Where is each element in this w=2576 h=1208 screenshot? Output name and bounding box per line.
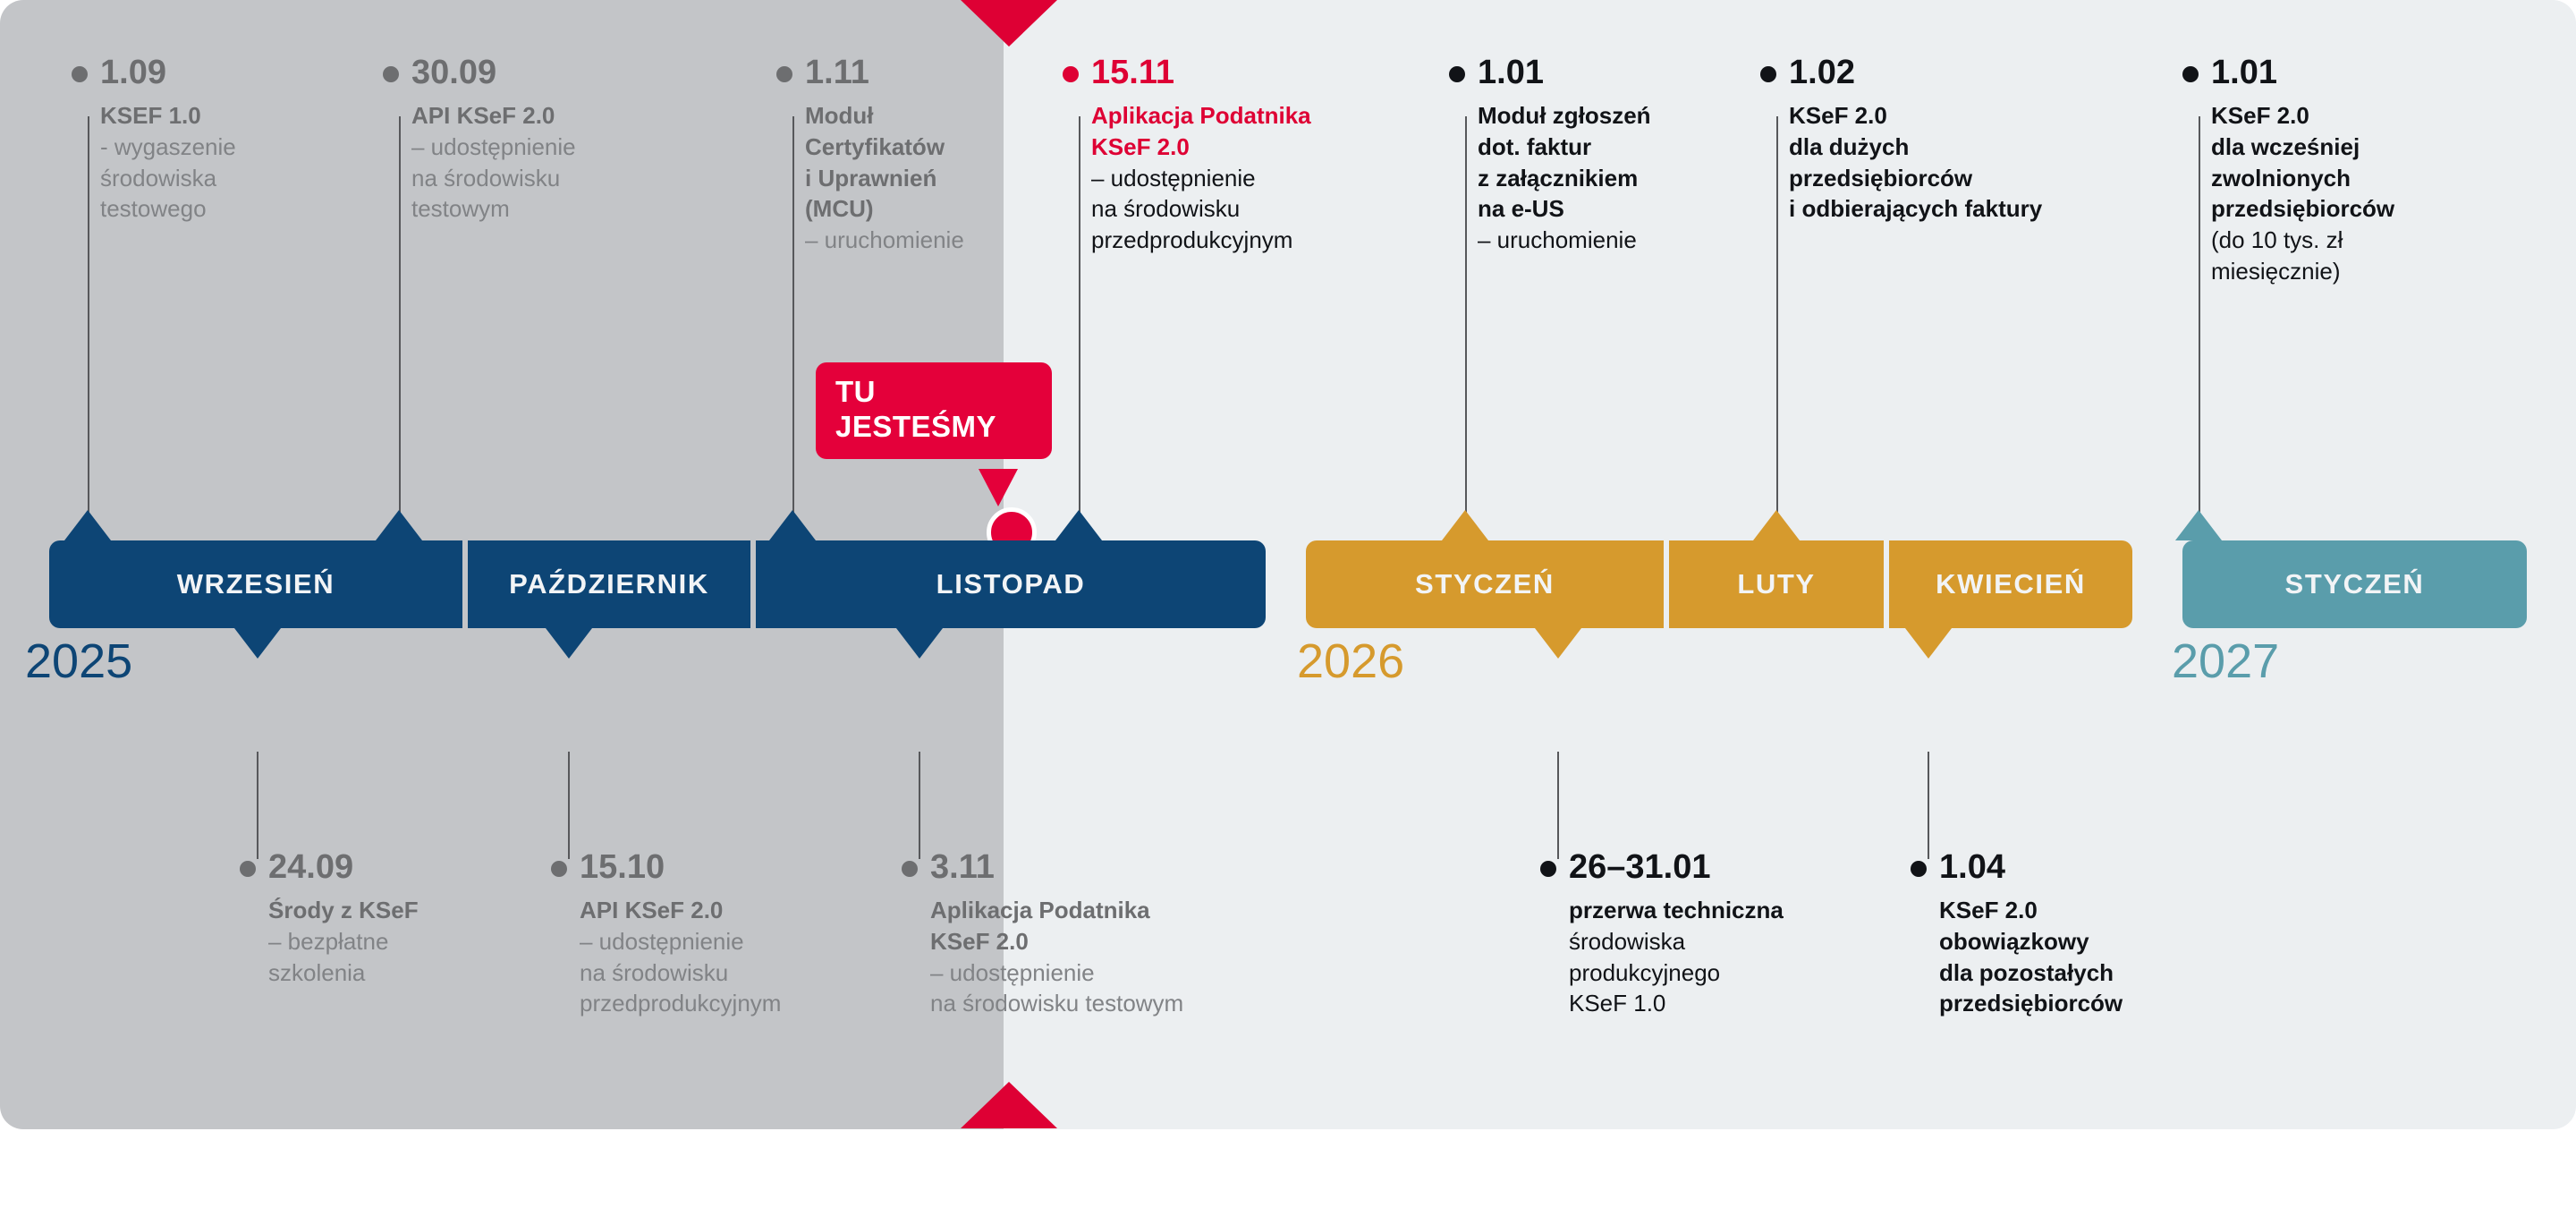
year-label-2026: 2026 [1297, 634, 1404, 689]
year-label-2025: 2025 [25, 634, 132, 689]
event-text: Środy z KSeF – bezpłatneszkolenia [240, 895, 445, 988]
bullet-icon [1063, 66, 1079, 82]
month-label: PAŹDZIERNIK [509, 568, 709, 600]
event-bottom-1: 15.10 API KSeF 2.0 – udostępnieniena śro… [551, 850, 810, 1019]
month-label: LUTY [1737, 568, 1815, 600]
event-text: KSeF 2.0obowiązkowydla pozostałychprzeds… [1911, 895, 2215, 1019]
bullet-icon [72, 66, 88, 82]
month-label: STYCZEŃ [2285, 568, 2425, 600]
connector-bottom-4 [1928, 752, 1929, 859]
you-are-here-line2: JESTEŚMY [835, 410, 1032, 445]
you-are-here-line1: TU [835, 375, 1032, 410]
connector-top-2 [792, 116, 794, 519]
event-desc: – bezpłatneszkolenia [268, 926, 445, 989]
bullet-icon [1760, 66, 1776, 82]
event-date: 15.10 [551, 850, 810, 884]
month-label: WRZESIEŃ [177, 568, 335, 600]
year-label-2027: 2027 [2172, 634, 2279, 689]
event-desc: – udostępnieniena środowiskuprzedprodukc… [580, 926, 810, 1019]
connector-top-4 [1465, 116, 1467, 519]
event-title: Aplikacja PodatnikaKSeF 2.0 [930, 895, 1286, 957]
bullet-icon [240, 861, 256, 877]
bullet-icon [551, 861, 567, 877]
event-title: KSEF 1.0 [100, 100, 241, 132]
month-label: KWIECIEŃ [1936, 568, 2086, 600]
connector-bottom-1 [568, 752, 570, 859]
bullet-icon [1540, 861, 1556, 877]
event-title: ModułCertyfikatówi Uprawnień(MCU) [805, 100, 982, 225]
event-top-2: 1.11 ModułCertyfikatówi Uprawnień(MCU) –… [776, 55, 982, 256]
arrow-down-kwiecien [1905, 628, 1952, 659]
event-title: KSeF 2.0obowiązkowydla pozostałychprzeds… [1939, 895, 2215, 1019]
event-date: 1.04 [1911, 850, 2215, 884]
event-title: Środy z KSeF [268, 895, 445, 926]
event-title: Moduł zgłoszeńdot. fakturz załącznikiemn… [1478, 100, 1708, 225]
event-bottom-2: 3.11 Aplikacja PodatnikaKSeF 2.0 – udost… [902, 850, 1286, 1019]
month-bar-luty[interactable]: LUTY [1669, 540, 1884, 628]
connector-top-0 [88, 116, 89, 519]
event-date: 3.11 [902, 850, 1286, 884]
event-desc: – udostępnieniena środowisku testowym [930, 957, 1286, 1020]
arrow-up-listopad-b [1055, 510, 1102, 540]
event-date: 30.09 [383, 55, 589, 89]
bullet-icon [776, 66, 792, 82]
event-title: API KSeF 2.0 [411, 100, 589, 132]
bullet-icon [902, 861, 918, 877]
event-top-1: 30.09 API KSeF 2.0 – udostępnieniena śro… [383, 55, 589, 225]
connector-top-1 [399, 116, 401, 519]
connector-bottom-2 [919, 752, 920, 859]
event-top-6: 1.01 KSeF 2.0dla wcześniejzwolnionychprz… [2182, 55, 2540, 287]
arrow-down-styczen-2026 [1535, 628, 1581, 659]
event-desc: (do 10 tys. złmiesięcznie) [2211, 225, 2540, 287]
event-bottom-0: 24.09 Środy z KSeF – bezpłatneszkolenia [240, 850, 445, 988]
month-bar-pazdziernik[interactable]: PAŹDZIERNIK [468, 540, 750, 628]
month-bar-styczen-2026[interactable]: STYCZEŃ [1306, 540, 1664, 628]
event-text: KSEF 1.0 - wygaszenieśrodowiskatestowego [72, 100, 241, 225]
arrow-up-styczen-2027 [2175, 510, 2222, 540]
arrow-down-listopad [896, 628, 943, 659]
event-title: KSeF 2.0dla wcześniejzwolnionychprzedsię… [2211, 100, 2540, 225]
event-text: Moduł zgłoszeńdot. fakturz załącznikiemn… [1449, 100, 1708, 256]
event-bottom-3: 26–31.01 przerwa techniczna środowiskapr… [1540, 850, 1880, 1019]
month-bar-listopad[interactable]: LISTOPAD [756, 540, 1266, 628]
current-date-marker-bottom-icon [961, 1082, 1057, 1128]
bullet-icon [383, 66, 399, 82]
event-desc: środowiskaprodukcyjnegoKSeF 1.0 [1569, 926, 1880, 1019]
connector-bottom-0 [257, 752, 258, 859]
event-text: KSeF 2.0dla wcześniejzwolnionychprzedsię… [2182, 100, 2540, 287]
month-label: LISTOPAD [936, 568, 1086, 600]
event-top-5: 1.02 KSeF 2.0dla dużychprzedsiębiorcówi … [1760, 55, 2145, 225]
arrow-down-pazdziernik [546, 628, 592, 659]
event-desc: – uruchomienie [805, 225, 982, 256]
event-date: 26–31.01 [1540, 850, 1880, 884]
timeline-infographic: 1.09 KSEF 1.0 - wygaszenieśrodowiskatest… [0, 0, 2576, 1208]
arrow-up-styczen-2026 [1442, 510, 1488, 540]
arrow-up-pazdziernik [376, 510, 422, 540]
event-title: API KSeF 2.0 [580, 895, 810, 926]
event-text: ModułCertyfikatówi Uprawnień(MCU) – uruc… [776, 100, 982, 256]
event-bottom-4: 1.04 KSeF 2.0obowiązkowydla pozostałychp… [1911, 850, 2215, 1019]
event-date: 1.02 [1760, 55, 2145, 89]
you-are-here-tail-icon [979, 469, 1018, 506]
event-date: 1.01 [2182, 55, 2540, 89]
month-bar-styczen-2027[interactable]: STYCZEŃ [2182, 540, 2527, 628]
connector-top-3 [1079, 116, 1080, 519]
event-text: API KSeF 2.0 – udostępnieniena środowisk… [383, 100, 589, 225]
event-title: przerwa techniczna [1569, 895, 1880, 926]
event-text: przerwa techniczna środowiskaprodukcyjne… [1540, 895, 1880, 1019]
you-are-here-badge: TU JESTEŚMY [816, 362, 1052, 459]
arrow-up-luty [1753, 510, 1800, 540]
arrow-up-wrzesien [64, 510, 111, 540]
month-label: STYCZEŃ [1415, 568, 1555, 600]
event-top-0: 1.09 KSEF 1.0 - wygaszenieśrodowiskatest… [72, 55, 241, 225]
bullet-icon [2182, 66, 2199, 82]
event-title: KSeF 2.0dla dużychprzedsiębiorcówi odbie… [1789, 100, 2145, 225]
event-text: KSeF 2.0dla dużychprzedsiębiorcówi odbie… [1760, 100, 2145, 225]
arrow-up-listopad [769, 510, 816, 540]
event-date: 24.09 [240, 850, 445, 884]
connector-bottom-3 [1557, 752, 1559, 859]
event-date: 1.09 [72, 55, 241, 89]
event-top-3: 15.11 Aplikacja PodatnikaKSeF 2.0 – udos… [1063, 55, 1395, 256]
event-title: Aplikacja PodatnikaKSeF 2.0 [1091, 100, 1395, 163]
event-date: 1.01 [1449, 55, 1708, 89]
connector-top-5 [1776, 116, 1778, 519]
event-desc: - wygaszenieśrodowiskatestowego [100, 132, 241, 225]
event-text: API KSeF 2.0 – udostępnieniena środowisk… [551, 895, 810, 1019]
event-desc: – uruchomienie [1478, 225, 1708, 256]
connector-top-6 [2199, 116, 2200, 519]
month-bar-wrzesien[interactable]: WRZESIEŃ [49, 540, 462, 628]
event-desc: – udostępnieniena środowiskutestowym [411, 132, 589, 225]
event-top-4: 1.01 Moduł zgłoszeńdot. fakturz załączni… [1449, 55, 1708, 256]
arrow-down-wrzesien [234, 628, 281, 659]
event-desc: – udostępnieniena środowiskuprzedprodukc… [1091, 163, 1395, 256]
event-date: 1.11 [776, 55, 982, 89]
bullet-icon [1449, 66, 1465, 82]
current-date-marker-top-icon [961, 0, 1057, 47]
event-text: Aplikacja PodatnikaKSeF 2.0 – udostępnie… [1063, 100, 1395, 256]
bullet-icon [1911, 861, 1927, 877]
event-text: Aplikacja PodatnikaKSeF 2.0 – udostępnie… [902, 895, 1286, 1019]
event-date: 15.11 [1063, 55, 1395, 89]
month-bar-kwiecien[interactable]: KWIECIEŃ [1889, 540, 2132, 628]
